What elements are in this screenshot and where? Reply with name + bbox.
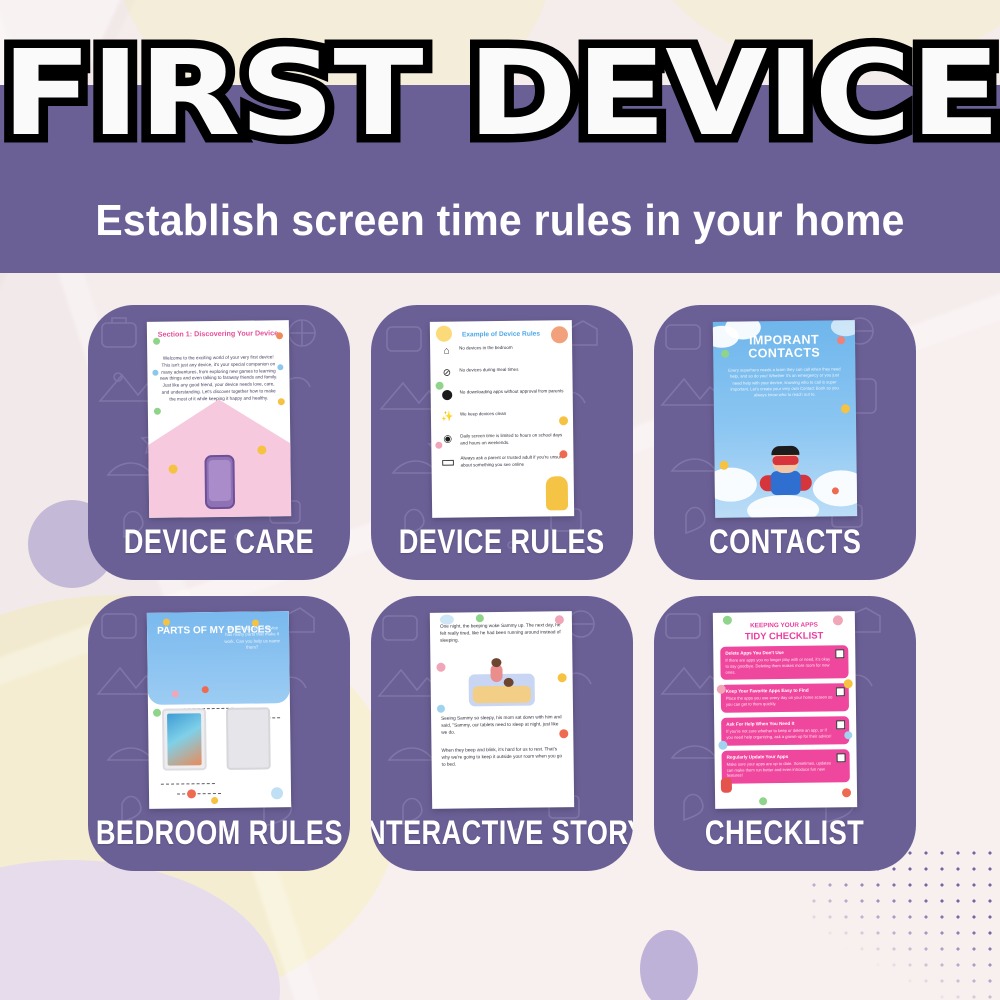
poster-device-rules: Example of Device Rules ⌂ No devices in … xyxy=(430,320,574,518)
poster-title: TIDY CHECKLIST xyxy=(713,630,855,643)
child-sleeping-illustration xyxy=(504,678,514,687)
tile-label: BEDROOM RULES xyxy=(96,816,343,850)
checklist-item: Ask For Help When You Need It If you're … xyxy=(721,716,849,745)
superhero-hair xyxy=(771,446,799,455)
checklist-item-heading: Delete Apps You Don't Use xyxy=(725,649,832,655)
confetti-dot xyxy=(559,450,567,458)
confetti-dot xyxy=(278,398,285,405)
poster-body-text: Welcome to the exciting world of your ve… xyxy=(158,354,279,403)
confetti-dot xyxy=(721,350,729,358)
tablet-front-illustration xyxy=(162,708,207,771)
label-dash-line xyxy=(177,793,221,795)
confetti-dot xyxy=(437,705,445,713)
tile-label: INTERACTIVE STORY xyxy=(371,816,633,850)
confetti-dot xyxy=(436,663,445,672)
child-sitting-illustration xyxy=(490,664,502,682)
tile-device-care[interactable]: Section 1: Discovering Your Device Welco… xyxy=(88,305,350,580)
confetti-dot xyxy=(154,408,161,415)
device-rules-list: ⌂ No devices in the bedroom ⊘ No devices… xyxy=(439,342,566,476)
confetti-dot xyxy=(759,797,767,805)
poster-device-care: Section 1: Discovering Your Device Welco… xyxy=(147,320,291,518)
running-child-illustration xyxy=(721,778,732,793)
page-subtitle: Establish screen time rules in your home xyxy=(35,196,965,246)
checklist-item: Keep Your Favorite Apps Easy to Find Pla… xyxy=(721,684,849,713)
confetti-dot xyxy=(153,709,161,717)
tile-label: CHECKLIST xyxy=(705,816,864,850)
confetti-dot xyxy=(844,731,852,739)
checklist-item: Regularly Update Your Apps Make sure you… xyxy=(721,749,849,784)
confetti-dot xyxy=(172,690,179,697)
poster-body-text: Just like a puzzle, a device has many pa… xyxy=(223,625,281,651)
list-item: ⊘ No devices during meal times xyxy=(439,364,564,381)
checklist-item-heading: Regularly Update Your Apps xyxy=(727,753,834,759)
emoji-dot xyxy=(257,445,266,454)
no-meal-device-icon: ⊘ xyxy=(439,366,454,381)
poster-contacts: IMPORANT CONTACTS Every superhero needs … xyxy=(713,320,857,518)
checkbox-icon[interactable] xyxy=(836,720,845,729)
superhero-mask xyxy=(772,456,798,465)
child-illustration xyxy=(546,476,568,510)
tile-bedroom-rules[interactable]: PARTS OF MY DEVICES Just like a puzzle, … xyxy=(88,596,350,871)
rule-text: We keep devices clean xyxy=(460,409,506,418)
confetti-dot xyxy=(555,615,564,624)
rule-text: No devices in the bedroom xyxy=(459,343,513,352)
checklist-item-text: If you're not sure whether to keep or de… xyxy=(726,727,833,740)
confetti-dot xyxy=(153,338,160,345)
confetti-dot xyxy=(718,741,727,750)
list-item: ✨ We keep devices clean xyxy=(440,408,565,425)
emoji-dot xyxy=(169,465,178,474)
story-paragraph: Seeing Sammy so sleepy, his mom sat down… xyxy=(441,713,564,736)
confetti-dot xyxy=(841,404,850,413)
confetti-dot xyxy=(842,788,851,797)
confetti-dot xyxy=(271,787,283,799)
poster-parts-of-devices: PARTS OF MY DEVICES Just like a puzzle, … xyxy=(147,611,291,809)
poster-title: IMPORANT CONTACTS xyxy=(713,333,855,361)
clean-device-icon: ✨ xyxy=(440,410,455,425)
checklist-items: Delete Apps You Don't Use If there are a… xyxy=(720,645,850,789)
confetti-dot xyxy=(202,686,209,693)
tile-device-rules[interactable]: Example of Device Rules ⌂ No devices in … xyxy=(371,305,633,580)
screen-time-icon: ◉ xyxy=(440,432,455,447)
tile-checklist[interactable]: KEEPING YOUR APPS TIDY CHECKLIST Delete … xyxy=(654,596,916,871)
label-dash-line xyxy=(161,783,215,785)
story-paragraph: When they beep and blink, it's hard for … xyxy=(441,745,564,768)
list-item: ⌂ No devices in the bedroom xyxy=(439,342,564,359)
quilt-illustration xyxy=(473,686,531,704)
confetti-dot xyxy=(211,797,218,804)
confetti-dot xyxy=(276,332,283,339)
confetti-dot xyxy=(163,619,170,626)
confetti-dot xyxy=(435,442,442,449)
checklist-item-text: If there are apps you no longer play wit… xyxy=(725,656,832,675)
lavender-circle-bottom xyxy=(640,930,698,1000)
rule-text: Daily screen time is limited to hours on… xyxy=(460,430,565,446)
poster-title: Section 1: Discovering Your Device xyxy=(155,328,281,339)
confetti-dot xyxy=(187,789,196,798)
confetti-dot xyxy=(436,382,444,390)
confetti-dot xyxy=(832,487,839,494)
confetti-dot xyxy=(720,461,729,470)
confetti-dot xyxy=(723,616,732,625)
confetti-dot xyxy=(837,336,845,344)
phone-screen xyxy=(209,460,231,501)
tile-label: CONTACTS xyxy=(709,525,861,559)
tablet-icon: ▭ xyxy=(440,454,455,469)
poster-interactive-story: One night, the beeping woke Sammy up. Th… xyxy=(430,611,574,809)
bed-icon: ⌂ xyxy=(439,344,454,359)
confetti-dot xyxy=(844,679,853,688)
page-title: FIRST DEVICE xyxy=(0,36,1000,150)
checklist-item-text: Place the apps you use every day on your… xyxy=(726,695,833,708)
confetti-dot xyxy=(277,364,283,370)
list-item: ⬤ No downloading apps without approval f… xyxy=(440,386,565,403)
checkbox-icon[interactable] xyxy=(837,753,846,762)
rule-text: Always ask a parent or trusted adult if … xyxy=(460,452,565,468)
confetti-dot xyxy=(476,614,484,622)
checklist-item: Delete Apps You Don't Use If there are a… xyxy=(720,645,848,680)
cloud-shape xyxy=(713,467,757,502)
tile-label: DEVICE CARE xyxy=(124,525,314,559)
tablet-back-illustration xyxy=(226,707,271,770)
checklist-item-heading: Ask For Help When You Need It xyxy=(726,720,833,726)
rule-text: No downloading apps without approval fro… xyxy=(460,386,564,396)
story-paragraph: One night, the beeping woke Sammy up. Th… xyxy=(440,621,563,644)
confetti-dot xyxy=(252,620,259,627)
confetti-dot xyxy=(833,615,843,625)
app-download-icon: ⬤ xyxy=(440,388,455,403)
poster-body-text: Every superhero needs a team they can ca… xyxy=(727,366,841,399)
tile-interactive-story[interactable]: One night, the beeping woke Sammy up. Th… xyxy=(371,596,633,871)
confetti-dot xyxy=(558,673,567,682)
cloud-shape xyxy=(747,495,819,518)
page-title-text: FIRST DEVICE xyxy=(1,36,999,150)
checklist-item-heading: Keep Your Favorite Apps Easy to Find xyxy=(726,688,833,694)
tile-label: DEVICE RULES xyxy=(399,525,605,559)
checkbox-icon[interactable] xyxy=(836,688,845,697)
superhero-body xyxy=(771,471,801,495)
list-item: ◉ Daily screen time is limited to hours … xyxy=(440,430,565,447)
confetti-dot xyxy=(152,370,158,376)
confetti-dot xyxy=(717,685,726,694)
poster-checklist: KEEPING YOUR APPS TIDY CHECKLIST Delete … xyxy=(713,611,857,809)
resource-tile-grid: Section 1: Discovering Your Device Welco… xyxy=(88,305,918,871)
list-item: ▭ Always ask a parent or trusted adult i… xyxy=(440,452,565,469)
rule-text: No devices during meal times xyxy=(459,365,518,374)
checkbox-icon[interactable] xyxy=(835,649,844,658)
checklist-item-text: Make sure your apps are up to date. Some… xyxy=(727,760,834,779)
phone-illustration xyxy=(204,455,235,509)
confetti-dot xyxy=(559,416,568,425)
tile-contacts[interactable]: IMPORANT CONTACTS Every superhero needs … xyxy=(654,305,916,580)
confetti-dot xyxy=(559,729,568,738)
